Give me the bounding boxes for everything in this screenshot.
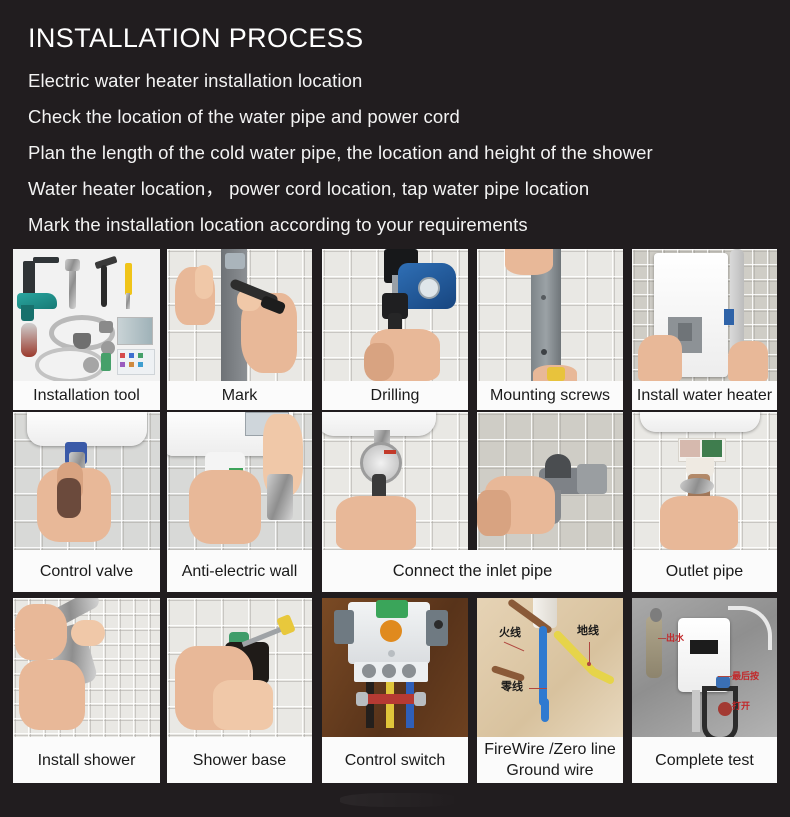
step-cell-outlet-pipe: Outlet pipe — [632, 412, 777, 592]
photo-anti-electric-wall — [167, 412, 312, 550]
step-row-3: Install shower Shower base — [13, 598, 777, 783]
step-cell-complete-test: 出水 最后按 打开 Complete test — [632, 598, 777, 783]
photo-complete-test: 出水 最后按 打开 — [632, 598, 777, 737]
step-cell-installation-tool: Installation tool — [13, 249, 160, 410]
step-row-2: Control valve Anti-electric wall — [13, 412, 777, 597]
photo-mount-heater — [632, 249, 777, 381]
step-caption-complete-test: Complete test — [632, 737, 777, 783]
step-cell-inlet-gauge — [322, 412, 468, 550]
photo-inlet-wrench — [477, 412, 623, 550]
photo-control-valve — [13, 412, 160, 550]
step-caption-install-shower: Install shower — [13, 737, 160, 783]
step-caption-install-water-heater: Install water heater — [632, 381, 777, 410]
photo-marking-wall — [167, 249, 312, 381]
step-cell-inlet-wrench — [477, 412, 623, 550]
test-label-open: 打开 — [732, 702, 750, 712]
photo-outlet-pipe — [632, 412, 777, 550]
step-caption-drilling: Drilling — [322, 381, 468, 410]
header-description-list: Electric water heater installation locat… — [28, 63, 790, 243]
photo-inlet-gauge — [322, 412, 468, 550]
step-cell-drilling: Drilling — [322, 249, 468, 410]
header-line-2: Check the location of the water pipe and… — [28, 99, 790, 135]
header-line-5: Mark the installation location according… — [28, 207, 790, 243]
step-cell-control-switch: Control switch — [322, 598, 468, 783]
step-cell-install-shower: Install shower — [13, 598, 160, 783]
wire-label-neutral: 零线 — [501, 682, 523, 692]
step-caption-shower-base: Shower base — [167, 737, 312, 783]
step-caption-outlet-pipe: Outlet pipe — [632, 550, 777, 592]
wire-caption-line-2: Ground wire — [506, 760, 593, 781]
photo-drill-wall — [322, 249, 468, 381]
wire-label-live: 火线 — [499, 628, 521, 638]
step-caption-mounting-screws: Mounting screws — [477, 381, 623, 410]
header-line-4: Water heater location， power cord locati… — [28, 171, 790, 207]
photo-bracket-screws — [477, 249, 623, 381]
photo-wire-diagram: 火线 零线 地线 — [477, 598, 623, 737]
step-caption-anti-electric-wall: Anti-electric wall — [167, 550, 312, 592]
step-cell-mark: Mark — [167, 249, 312, 410]
step-caption-wire-diagram: FireWire /Zero line Ground wire — [477, 737, 623, 783]
step-cell-control-valve: Control valve — [13, 412, 160, 592]
step-cell-mounting-screws: Mounting screws — [477, 249, 623, 410]
photo-control-switch — [322, 598, 468, 737]
page-title: INSTALLATION PROCESS — [28, 22, 790, 54]
photo-shower-base — [167, 598, 312, 737]
step-caption-mark: Mark — [167, 381, 312, 410]
test-label-water-outlet: 出水 — [666, 634, 684, 644]
header-line-3: Plan the length of the cold water pipe, … — [28, 135, 790, 171]
step-cell-install-water-heater: Install water heater — [632, 249, 777, 410]
installation-step-grid: Installation tool Mark — [13, 249, 777, 783]
test-label-press-last: 最后按 — [732, 672, 759, 682]
header-line-1: Electric water heater installation locat… — [28, 63, 790, 99]
step-cell-anti-electric-wall: Anti-electric wall — [167, 412, 312, 592]
step-caption-control-valve: Control valve — [13, 550, 160, 592]
step-caption-connect-inlet-pipe: Connect the inlet pipe — [322, 550, 623, 592]
wire-caption-line-1: FireWire /Zero line — [484, 739, 616, 760]
step-caption-installation-tool: Installation tool — [13, 381, 160, 410]
wire-label-ground: 地线 — [577, 626, 599, 636]
step-cell-shower-base: Shower base — [167, 598, 312, 783]
bottom-artifact — [340, 793, 460, 807]
photo-install-shower — [13, 598, 160, 737]
step-caption-control-switch: Control switch — [322, 737, 468, 783]
photo-tools-layout — [13, 249, 160, 381]
step-row-1: Installation tool Mark — [13, 249, 777, 410]
step-cell-wire-diagram: 火线 零线 地线 FireWire /Zero line Ground wire — [477, 598, 623, 783]
header: INSTALLATION PROCESS Electric water heat… — [0, 0, 790, 243]
